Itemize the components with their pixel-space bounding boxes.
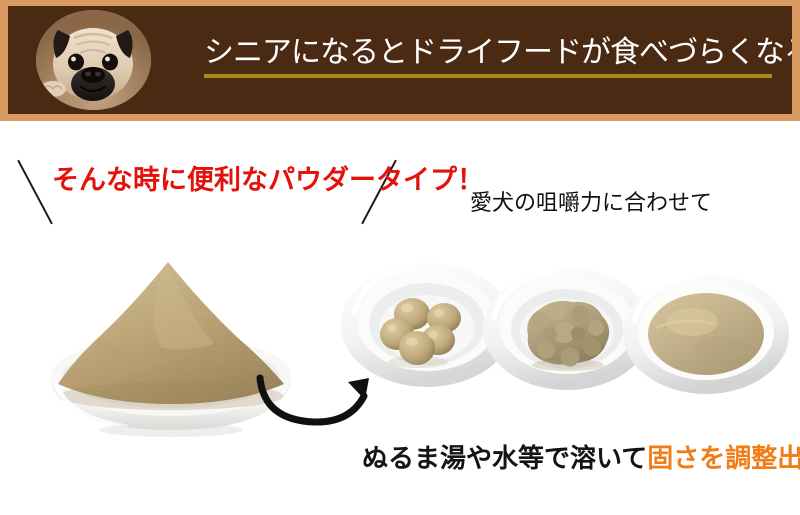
slash-mark-left-icon xyxy=(17,160,53,225)
header-banner: シニアになるとドライフードが食べづらくなる場面も… xyxy=(0,0,800,121)
caption-part-1: ぬるま湯や水等で溶いて xyxy=(362,444,647,474)
pug-dog-photo xyxy=(36,10,151,110)
page-title: シニアになるとドライフードが食べづらくなる場面も… xyxy=(204,34,779,72)
headline-text: そんな時に便利なパウダータイプ！ xyxy=(52,164,484,198)
headline-block: そんな時に便利なパウダータイプ！ xyxy=(18,152,418,232)
subtitle-text: 愛犬の咀嚼力に合わせて xyxy=(470,190,712,218)
title-underline xyxy=(204,74,772,78)
caption-part-2: 固さを調整出来ます! xyxy=(647,444,800,474)
bowl-liquid-soup xyxy=(622,268,792,400)
header-inner-panel: シニアになるとドライフードが食べづらくなる場面も… xyxy=(8,6,792,114)
bottom-caption: ぬるま湯や水等で溶いて固さを調整出来ます! xyxy=(362,442,800,476)
header-title-wrap: シニアになるとドライフードが食べづらくなる場面も… xyxy=(204,34,779,78)
promo-banner-page: シニアになるとドライフードが食べづらくなる場面も… そんな時に便利なパウダータイ… xyxy=(0,0,800,515)
